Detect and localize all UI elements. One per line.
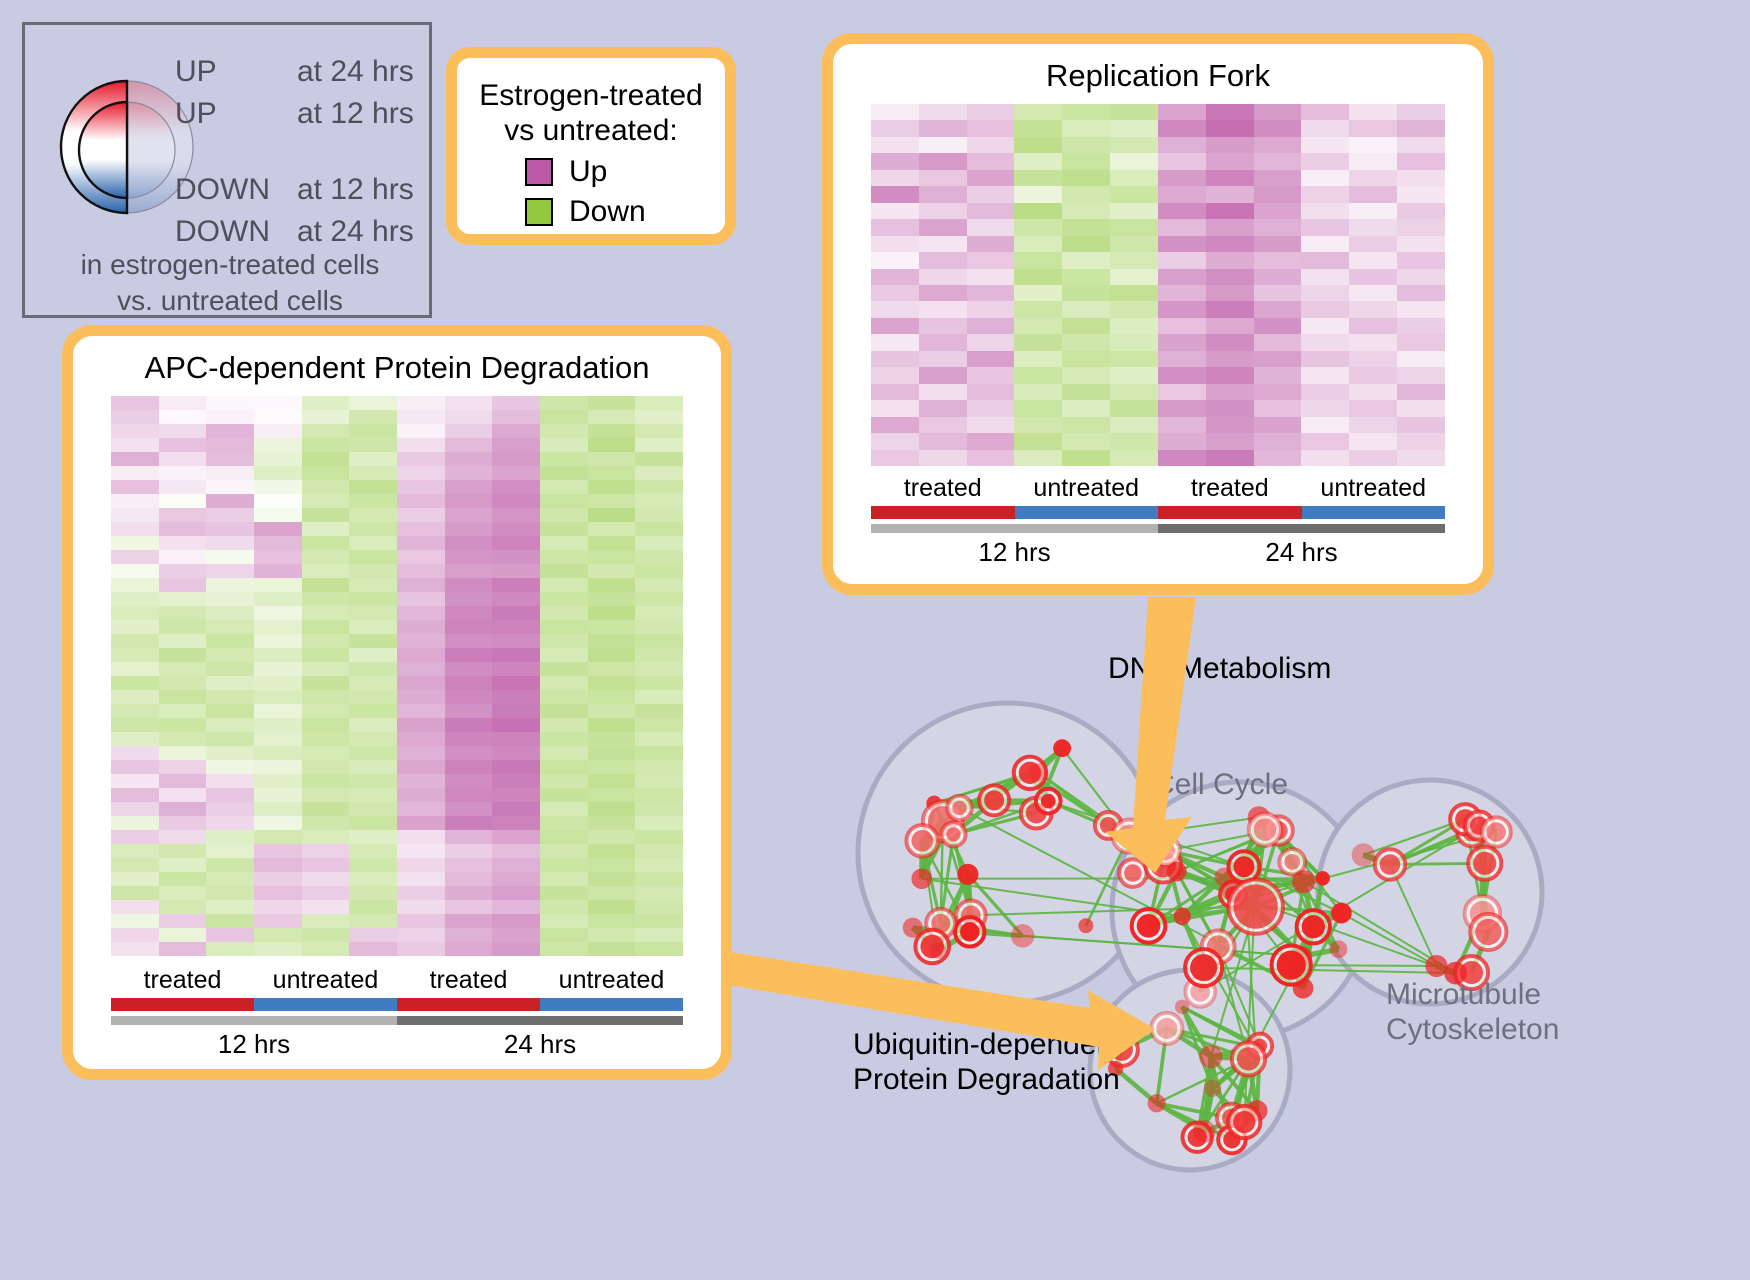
- heatmap-cell: [349, 928, 397, 942]
- heatmap-cell: [397, 536, 445, 550]
- heatmap-cell: [1110, 334, 1158, 350]
- heatmap-cell: [1158, 153, 1206, 169]
- network-node[interactable]: [984, 790, 1004, 810]
- heatmap-cell: [159, 508, 207, 522]
- heatmap-cell: [111, 466, 159, 480]
- heatmap-cell: [492, 844, 540, 858]
- heatmap-cell: [159, 942, 207, 956]
- network-node[interactable]: [1292, 870, 1315, 893]
- heatmap-cell: [1349, 417, 1397, 433]
- network-node[interactable]: [1148, 1094, 1166, 1112]
- heatmap-cell: [1158, 351, 1206, 367]
- heatmap-cell: [302, 872, 350, 886]
- heatmap-cell: [1110, 170, 1158, 186]
- heatmap-cell: [1158, 285, 1206, 301]
- heatmap-cell: [159, 928, 207, 942]
- heatmap-cell: [111, 732, 159, 746]
- network-node[interactable]: [1352, 843, 1375, 866]
- heatmap-cell: [492, 788, 540, 802]
- heatmap-cell: [540, 536, 588, 550]
- heatmap-cell: [111, 746, 159, 760]
- heatmap-cell: [871, 170, 919, 186]
- heatmap-cell: [302, 410, 350, 424]
- pathway-network: DNA Metabolism Cell Cycle Microtubule Cy…: [790, 620, 1750, 1280]
- heatmap-cell: [1110, 301, 1158, 317]
- heatmap-cell: [397, 620, 445, 634]
- heatmap-cell: [871, 153, 919, 169]
- heatmap-cell: [871, 301, 919, 317]
- heatmap-cell: [206, 424, 254, 438]
- legend-row: UP at 12 hrs: [175, 97, 425, 139]
- heatmap-cell: [1397, 137, 1445, 153]
- network-node[interactable]: [1124, 864, 1142, 882]
- network-node[interactable]: [1175, 1000, 1189, 1014]
- heatmap-cell: [1301, 400, 1349, 416]
- heatmap-cell: [1206, 301, 1254, 317]
- heatmap-cell: [302, 802, 350, 816]
- network-node[interactable]: [1284, 854, 1300, 870]
- heatmap-cell: [397, 648, 445, 662]
- heatmap-cell: [635, 424, 683, 438]
- cluster-label-dna-metabolism: DNA Metabolism: [1108, 652, 1331, 687]
- heatmap-cell: [1062, 367, 1110, 383]
- heatmap-cell: [1062, 252, 1110, 268]
- heatmap-cell: [871, 252, 919, 268]
- heatmap-cell: [349, 802, 397, 816]
- heatmap-cell: [111, 676, 159, 690]
- time-bar-segment: [871, 524, 1158, 533]
- heatmap-cell: [588, 690, 636, 704]
- heatmap-cell: [397, 858, 445, 872]
- condition-bar-segment: [1302, 506, 1446, 519]
- condition-label: treated: [111, 966, 254, 995]
- heatmap-cell: [871, 318, 919, 334]
- heatmap-cell: [445, 424, 493, 438]
- network-node[interactable]: [1475, 919, 1501, 945]
- heatmap-cell: [206, 634, 254, 648]
- heatmap-cell: [302, 480, 350, 494]
- heatmap-cell: [1014, 318, 1062, 334]
- heatmap-cell: [1206, 104, 1254, 120]
- network-node[interactable]: [1204, 1080, 1221, 1097]
- heatmap-cell: [1110, 236, 1158, 252]
- time-label: 12 hrs: [111, 1029, 397, 1060]
- heatmap-cell: [206, 774, 254, 788]
- heatmap-cell: [540, 410, 588, 424]
- heatmap-cell: [349, 718, 397, 732]
- heatmap-cell: [1301, 236, 1349, 252]
- heatmap-cell: [540, 844, 588, 858]
- heatmap-cell: [111, 550, 159, 564]
- heatmap-cell: [919, 120, 967, 136]
- figure-root: UP at 24 hrs UP at 12 hrs DOWN at 12 hrs…: [0, 0, 1750, 1279]
- heatmap-cell: [349, 606, 397, 620]
- heatmap-cell: [540, 788, 588, 802]
- network-node[interactable]: [957, 864, 978, 885]
- legend-row: DOWN at 12 hrs: [175, 173, 425, 215]
- heatmap-cell: [492, 592, 540, 606]
- heatmap-cell: [397, 704, 445, 718]
- condition-label: treated: [397, 966, 540, 995]
- heatmap-cell: [492, 578, 540, 592]
- heatmap-cell: [397, 494, 445, 508]
- heatmap-cell: [302, 718, 350, 732]
- heatmap-cell: [1014, 170, 1062, 186]
- heatmap-cell: [635, 564, 683, 578]
- heatmap-cell: [588, 732, 636, 746]
- legend-item-down: Down: [525, 195, 725, 229]
- heatmap-cell: [206, 508, 254, 522]
- heatmap-cell: [588, 494, 636, 508]
- heatmap-cell: [635, 928, 683, 942]
- network-node[interactable]: [1277, 950, 1306, 979]
- heatmap-cell: [1254, 104, 1302, 120]
- heatmap-cell: [445, 396, 493, 410]
- heatmap-cell: [540, 578, 588, 592]
- heatmap-cell: [1397, 219, 1445, 235]
- caption-line-1: in estrogen-treated cells: [25, 247, 435, 283]
- heatmap-cell: [1206, 236, 1254, 252]
- heatmap-cell: [111, 578, 159, 592]
- network-node[interactable]: [1041, 794, 1056, 809]
- heatmap-cell: [1301, 203, 1349, 219]
- heatmap-cell: [540, 774, 588, 788]
- heatmap-cell: [588, 536, 636, 550]
- heatmap-cell: [871, 334, 919, 350]
- network-node[interactable]: [1053, 739, 1071, 757]
- heatmap-cell: [540, 452, 588, 466]
- time-label: 24 hrs: [1158, 537, 1445, 568]
- heatmap-cell: [871, 236, 919, 252]
- network-node[interactable]: [1425, 955, 1447, 977]
- heatmap-cell: [349, 508, 397, 522]
- heatmap-cell: [871, 351, 919, 367]
- heatmap-cell: [111, 438, 159, 452]
- heatmap-cell: [540, 550, 588, 564]
- heatmap-cell: [206, 466, 254, 480]
- condition-label: untreated: [540, 966, 683, 995]
- heatmap-cell: [540, 816, 588, 830]
- heatmap-cell: [1349, 203, 1397, 219]
- heatmap-cell: [1206, 203, 1254, 219]
- heatmap-cell: [206, 802, 254, 816]
- heatmap-cell: [445, 550, 493, 564]
- heatmap-cell: [492, 732, 540, 746]
- heatmap-cell: [1254, 269, 1302, 285]
- heatmap-cell: [1158, 301, 1206, 317]
- heatmap-cell: [206, 536, 254, 550]
- heatmap-cell: [1062, 219, 1110, 235]
- caption-line-2: vs. untreated cells: [25, 283, 435, 319]
- heatmap-cell: [111, 648, 159, 662]
- heatmap-cell: [1254, 384, 1302, 400]
- heatmap-cell: [635, 620, 683, 634]
- heatmap-cell: [1062, 186, 1110, 202]
- network-node[interactable]: [1487, 822, 1506, 841]
- heatmap-cell: [445, 732, 493, 746]
- network-node[interactable]: [1473, 852, 1496, 875]
- heatmap-cell: [206, 648, 254, 662]
- heatmap-cell: [1397, 186, 1445, 202]
- heatmap-cell: [159, 704, 207, 718]
- heatmap-cell: [1158, 400, 1206, 416]
- network-node[interactable]: [1302, 915, 1325, 938]
- heatmap-cell: [206, 452, 254, 466]
- heatmap-cell: [254, 648, 302, 662]
- network-node[interactable]: [1078, 918, 1093, 933]
- heatmap-cell: [1397, 450, 1445, 466]
- heatmap-cell: [445, 718, 493, 732]
- network-node[interactable]: [1199, 1045, 1222, 1068]
- network-node[interactable]: [911, 868, 932, 889]
- heatmap-cell: [919, 186, 967, 202]
- network-node[interactable]: [1331, 903, 1352, 924]
- network-node[interactable]: [1011, 924, 1034, 947]
- heatmap-cell: [397, 886, 445, 900]
- heatmap-cell: [445, 830, 493, 844]
- heatmap-cell: [588, 802, 636, 816]
- heatmap-cell: [349, 536, 397, 550]
- heatmap-cell: [967, 219, 1015, 235]
- heatmap-cell: [302, 704, 350, 718]
- heatmap-cell: [302, 620, 350, 634]
- network-node[interactable]: [1118, 824, 1141, 847]
- estrogen-legend-title: Estrogen-treated vs untreated:: [457, 78, 725, 149]
- heatmap-cell: [302, 508, 350, 522]
- heatmap-cell: [919, 170, 967, 186]
- network-node[interactable]: [1190, 954, 1217, 981]
- heatmap-cell: [492, 942, 540, 956]
- heatmap-cell: [492, 396, 540, 410]
- heatmap-cell: [445, 914, 493, 928]
- condition-bar-segment: [1158, 506, 1302, 519]
- heatmap-cell: [445, 676, 493, 690]
- heatmap-cell: [254, 816, 302, 830]
- heatmap-cell: [1349, 433, 1397, 449]
- heatmap-cell: [635, 634, 683, 648]
- up-color-swatch: [525, 158, 553, 186]
- heatmap-cell: [302, 648, 350, 662]
- heatmap-cell: [206, 928, 254, 942]
- time-color-bar: [871, 524, 1445, 533]
- heatmap-cell: [492, 704, 540, 718]
- network-node[interactable]: [1233, 856, 1254, 877]
- heatmap-cell: [302, 424, 350, 438]
- network-node[interactable]: [1167, 862, 1187, 882]
- heatmap-cell: [1349, 153, 1397, 169]
- heatmap-cell: [967, 318, 1015, 334]
- heatmap-cell: [349, 704, 397, 718]
- heatmap-cell: [1301, 120, 1349, 136]
- network-node[interactable]: [911, 830, 933, 852]
- heatmap-cell: [159, 410, 207, 424]
- heatmap-cell: [1349, 252, 1397, 268]
- heatmap-cell: [111, 858, 159, 872]
- heatmap-cell: [1301, 186, 1349, 202]
- heatmap-cell: [1301, 301, 1349, 317]
- heatmap-cell: [111, 886, 159, 900]
- heatmap-cell: [967, 153, 1015, 169]
- heatmap-cell: [871, 417, 919, 433]
- heatmap-cell: [302, 816, 350, 830]
- heatmap-cell: [1014, 120, 1062, 136]
- heatmap-cell: [302, 760, 350, 774]
- heatmap-cell: [588, 886, 636, 900]
- heatmap-cell: [302, 690, 350, 704]
- network-node[interactable]: [1019, 762, 1041, 784]
- heatmap-cell: [1254, 433, 1302, 449]
- condition-bar-segment: [397, 998, 540, 1011]
- heatmap-cell: [635, 578, 683, 592]
- heatmap-cell: [540, 718, 588, 732]
- heatmap-cell: [588, 718, 636, 732]
- heatmap-cell: [635, 690, 683, 704]
- heatmap-cell: [1301, 104, 1349, 120]
- heatmap-cell: [540, 620, 588, 634]
- heatmap-cell: [111, 620, 159, 634]
- heatmap-cell: [349, 942, 397, 956]
- heatmap-cell: [206, 872, 254, 886]
- network-node[interactable]: [1254, 818, 1276, 840]
- heatmap-cell: [111, 410, 159, 424]
- legend-time: at 24 hrs: [297, 215, 414, 249]
- heatmap-cell: [1158, 417, 1206, 433]
- heatmap-cell: [1397, 153, 1445, 169]
- heatmap-cell: [1158, 334, 1206, 350]
- heatmap-cell: [635, 872, 683, 886]
- condition-labels: treated untreated treated untreated: [871, 474, 1445, 503]
- heatmap-cell: [635, 830, 683, 844]
- heatmap-cell: [111, 942, 159, 956]
- heatmap-cell: [302, 928, 350, 942]
- heatmap-cell: [492, 886, 540, 900]
- heatmap-cell: [159, 620, 207, 634]
- heatmap-cell: [1014, 400, 1062, 416]
- heatmap-cell: [445, 746, 493, 760]
- heatmap-cell: [159, 816, 207, 830]
- heatmap-cell: [445, 788, 493, 802]
- heatmap-cell: [349, 844, 397, 858]
- heatmap-cell: [397, 942, 445, 956]
- heatmap-cell: [1014, 384, 1062, 400]
- heatmap-cell: [1397, 236, 1445, 252]
- heatmap-cell: [302, 564, 350, 578]
- network-node[interactable]: [930, 943, 946, 959]
- heatmap-cell: [445, 480, 493, 494]
- heatmap-cell: [397, 564, 445, 578]
- heatmap-cell: [1254, 367, 1302, 383]
- heatmap-cell: [254, 690, 302, 704]
- heatmap-cell: [445, 942, 493, 956]
- heatmap-cell: [1158, 120, 1206, 136]
- network-node[interactable]: [1214, 868, 1233, 887]
- heatmap-cell: [397, 606, 445, 620]
- heatmap-cell: [206, 690, 254, 704]
- heatmap-cell: [397, 816, 445, 830]
- network-node[interactable]: [1233, 1111, 1255, 1133]
- heatmap-cell: [492, 494, 540, 508]
- heatmap-cell: [111, 704, 159, 718]
- heatmap-cell: [1014, 252, 1062, 268]
- heatmap-cell: [254, 494, 302, 508]
- heatmap-cell: [349, 830, 397, 844]
- network-node[interactable]: [1330, 940, 1348, 958]
- heatmap-cell: [492, 914, 540, 928]
- legend-time: at 12 hrs: [297, 173, 414, 207]
- heatmap-cell: [635, 760, 683, 774]
- heatmap-cell: [254, 578, 302, 592]
- condition-label: treated: [871, 474, 1015, 503]
- heatmap-cell: [111, 522, 159, 536]
- network-node[interactable]: [1137, 914, 1161, 938]
- heatmap-cell: [159, 914, 207, 928]
- heatmap-cell: [159, 452, 207, 466]
- heatmap-cell: [919, 384, 967, 400]
- heatmap-cell: [397, 774, 445, 788]
- heatmap-cell: [397, 732, 445, 746]
- heatmap-cell: [206, 844, 254, 858]
- heatmap-cell: [254, 592, 302, 606]
- heatmap-cell: [445, 494, 493, 508]
- heatmap-cell: [540, 606, 588, 620]
- apc-heatmap: [111, 396, 683, 956]
- network-node[interactable]: [960, 922, 979, 941]
- heatmap-cell: [919, 318, 967, 334]
- heatmap-cell: [588, 606, 636, 620]
- heatmap-cell: [159, 774, 207, 788]
- network-node[interactable]: [1174, 908, 1191, 925]
- heatmap-cell: [302, 550, 350, 564]
- network-node[interactable]: [1156, 1018, 1177, 1039]
- heatmap-cell: [1397, 351, 1445, 367]
- heatmap-cell: [445, 760, 493, 774]
- heatmap-cell: [159, 494, 207, 508]
- network-node[interactable]: [946, 827, 960, 841]
- down-color-swatch: [525, 198, 553, 226]
- heatmap-cell: [1254, 186, 1302, 202]
- network-node[interactable]: [952, 801, 966, 815]
- heatmap-cell: [302, 844, 350, 858]
- heatmap-cell: [588, 704, 636, 718]
- heatmap-cell: [1206, 170, 1254, 186]
- heatmap-cell: [588, 578, 636, 592]
- heatmap-cell: [540, 396, 588, 410]
- network-node[interactable]: [1156, 842, 1175, 861]
- heatmap-cell: [111, 872, 159, 886]
- heatmap-cell: [1206, 351, 1254, 367]
- heatmap-cell: [1254, 318, 1302, 334]
- heatmap-cell: [159, 550, 207, 564]
- heatmap-cell: [445, 522, 493, 536]
- network-node[interactable]: [1193, 1120, 1216, 1143]
- heatmap-cell: [492, 466, 540, 480]
- heatmap-cell: [492, 760, 540, 774]
- heatmap-cell: [1062, 203, 1110, 219]
- heatmap-cell: [1254, 450, 1302, 466]
- heatmap-cell: [397, 466, 445, 480]
- network-node[interactable]: [1237, 1047, 1260, 1070]
- network-node[interactable]: [1380, 854, 1401, 875]
- network-node[interactable]: [1316, 871, 1330, 885]
- heatmap-cell: [206, 788, 254, 802]
- network-node[interactable]: [1233, 884, 1277, 928]
- heatmap-cell: [1062, 450, 1110, 466]
- heatmap-cell: [1062, 400, 1110, 416]
- heatmap-cell: [1254, 153, 1302, 169]
- heatmap-cell: [540, 634, 588, 648]
- heatmap-cell: [1110, 400, 1158, 416]
- heatmap-cell: [1254, 301, 1302, 317]
